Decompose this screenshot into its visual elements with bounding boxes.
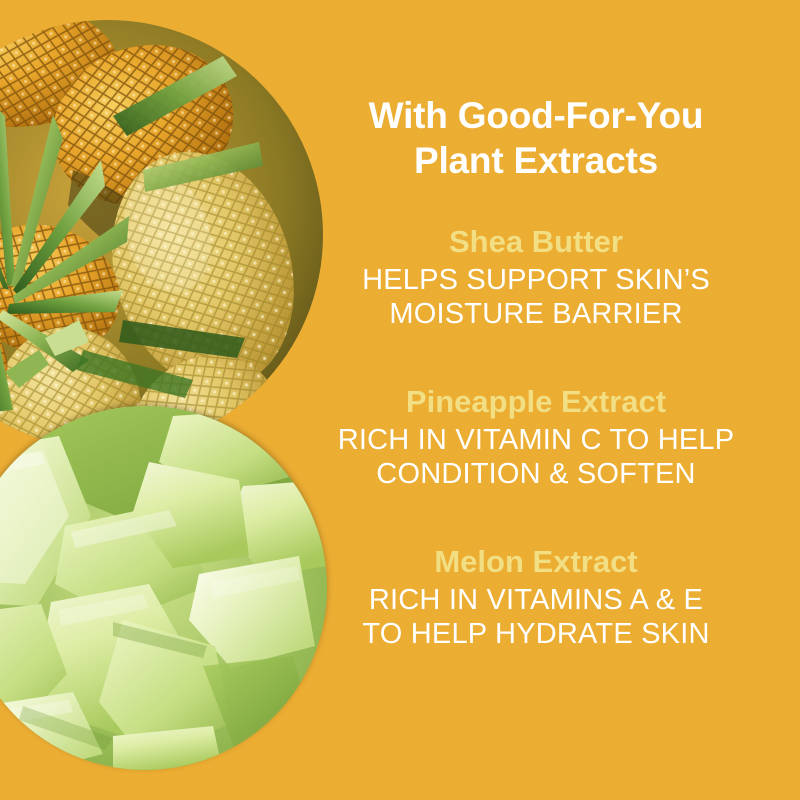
page-title: With Good-For-You Plant Extracts (300, 93, 772, 183)
extract-desc-line-1: RICH IN VITAMINS A & E (300, 583, 772, 618)
pineapple-illustration (0, 20, 323, 450)
extract-desc-line-2: CONDITION & SOFTEN (300, 457, 772, 492)
extract-description-shea-butter: HELPS SUPPORT SKIN’S MOISTURE BARRIER (300, 263, 772, 333)
extract-title-melon-extract: Melon Extract (300, 544, 772, 581)
extract-description-pineapple-extract: RICH IN VITAMIN C TO HELP CONDITION & SO… (300, 423, 772, 493)
text-column: With Good-For-You Plant Extracts Shea Bu… (300, 0, 780, 800)
pineapple-photo (0, 20, 323, 450)
promo-banner: With Good-For-You Plant Extracts Shea Bu… (0, 0, 800, 800)
extract-description-melon-extract: RICH IN VITAMINS A & E TO HELP HYDRATE S… (300, 583, 772, 653)
melon-illustration (0, 406, 327, 770)
extract-desc-line-2: MOISTURE BARRIER (300, 297, 772, 332)
extract-title-shea-butter: Shea Butter (300, 224, 772, 261)
headline-line-2: Plant Extracts (300, 138, 772, 183)
extract-block-melon-extract: Melon Extract RICH IN VITAMINS A & E TO … (300, 544, 772, 652)
extract-desc-line-2: TO HELP HYDRATE SKIN (300, 617, 772, 652)
extract-block-pineapple-extract: Pineapple Extract RICH IN VITAMIN C TO H… (300, 384, 772, 492)
extract-block-shea-butter: Shea Butter HELPS SUPPORT SKIN’S MOISTUR… (300, 224, 772, 332)
extract-desc-line-1: RICH IN VITAMIN C TO HELP (300, 423, 772, 458)
melon-photo (0, 406, 327, 770)
headline-line-1: With Good-For-You (300, 93, 772, 138)
extract-title-pineapple-extract: Pineapple Extract (300, 384, 772, 421)
extract-desc-line-1: HELPS SUPPORT SKIN’S (300, 263, 772, 298)
